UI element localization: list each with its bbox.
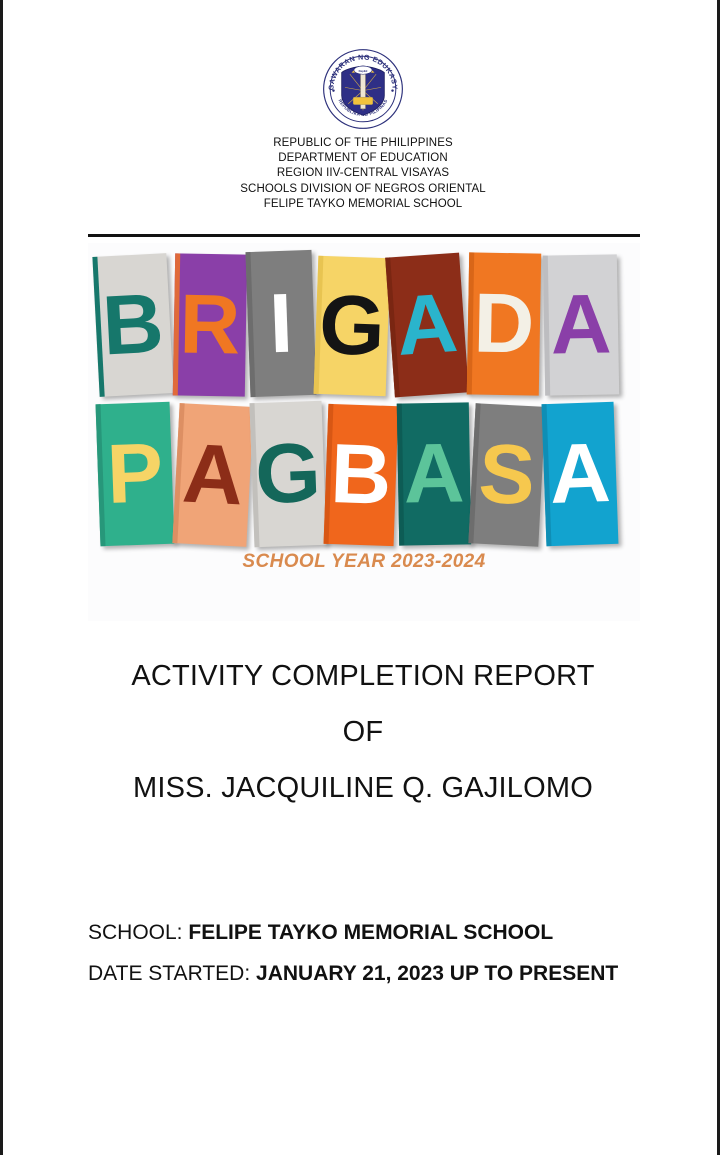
letterhead: KAGAWARAN NG EDUKASYON REPUBLIKA NG PILI…: [3, 48, 720, 212]
banner-letter-tile: R: [173, 253, 247, 396]
field-school: SCHOOL: FELIPE TAYKO MEMORIAL SCHOOL: [88, 912, 648, 953]
tile-spine: [96, 404, 106, 546]
header-divider: [88, 234, 640, 237]
school-year-label: SCHOOL YEAR 2023-2024: [88, 551, 640, 573]
title-connector: OF: [3, 704, 720, 760]
letterhead-line-department: DEPARTMENT OF EDUCATION: [3, 151, 720, 166]
tile-letter: S: [477, 431, 537, 518]
tile-letter: A: [548, 430, 612, 516]
banner-letter-tile: A: [172, 403, 253, 547]
banner-letter-tile: A: [543, 254, 619, 395]
banner-letter-tile: B: [324, 404, 399, 546]
banner-letter-tile: G: [314, 256, 391, 396]
banner-letter-tile: I: [245, 250, 316, 397]
tile-letter: G: [254, 430, 322, 516]
tile-letter: D: [473, 280, 535, 365]
letterhead-line-division: SCHOOLS DIVISION OF NEGROS ORIENTAL: [3, 182, 720, 197]
field-date-started: DATE STARTED: JANUARY 21, 2023 UP TO PRE…: [88, 953, 648, 994]
tile-letter: B: [100, 280, 165, 367]
report-meta-fields: SCHOOL: FELIPE TAYKO MEMORIAL SCHOOL DAT…: [88, 912, 648, 994]
field-date-started-value: JANUARY 21, 2023 UP TO PRESENT: [256, 962, 618, 985]
banner-letter-tile: P: [96, 402, 175, 546]
report-title-block: ACTIVITY COMPLETION REPORT OF MISS. JACQ…: [3, 648, 720, 816]
tile-letter: A: [403, 430, 465, 515]
banner-letter-tile: A: [542, 402, 619, 546]
svg-text:DepEd: DepEd: [359, 69, 368, 73]
brigada-pagbasa-banner: BRIGADA PAGBASA SCHOOL YEAR 2023-2024: [88, 243, 640, 621]
banner-row-brigada: BRIGADA: [88, 251, 640, 401]
banner-letter-tile: A: [385, 253, 469, 398]
letterhead-text: REPUBLIC OF THE PHILIPPINES DEPARTMENT O…: [3, 136, 720, 212]
page-title: ACTIVITY COMPLETION REPORT: [3, 648, 720, 704]
field-date-started-label: DATE STARTED:: [88, 962, 250, 985]
deped-seal-icon: KAGAWARAN NG EDUKASYON REPUBLIKA NG PILI…: [322, 48, 404, 130]
tile-letter: R: [179, 281, 241, 366]
tile-letter: B: [329, 431, 393, 517]
tile-letter: I: [268, 280, 294, 365]
banner-letter-tile: B: [92, 253, 173, 397]
tile-letter: A: [550, 281, 612, 366]
banner-letter-tile: S: [468, 403, 545, 546]
field-school-value: FELIPE TAYKO MEMORIAL SCHOOL: [188, 921, 553, 944]
banner-row-pagbasa: PAGBASA: [88, 401, 640, 551]
author-name: MISS. JACQUILINE Q. GAJILOMO: [3, 760, 720, 816]
letterhead-line-school: FELIPE TAYKO MEMORIAL SCHOOL: [3, 197, 720, 212]
banner-letter-tile: G: [250, 401, 327, 547]
tile-spine: [245, 252, 255, 397]
tile-letter: P: [106, 430, 165, 516]
banner-letter-tile: D: [467, 252, 541, 395]
banner-letter-tile: A: [397, 402, 471, 545]
letterhead-line-region: REGION IIV-CENTRAL VISAYAS: [3, 166, 720, 181]
letterhead-line-country: REPUBLIC OF THE PHILIPPINES: [3, 136, 720, 151]
document-page: KAGAWARAN NG EDUKASYON REPUBLIKA NG PILI…: [0, 0, 720, 1155]
tile-letter: A: [394, 280, 460, 368]
field-school-label: SCHOOL:: [88, 921, 183, 944]
tile-letter: A: [181, 430, 246, 517]
tile-letter: G: [318, 282, 386, 368]
